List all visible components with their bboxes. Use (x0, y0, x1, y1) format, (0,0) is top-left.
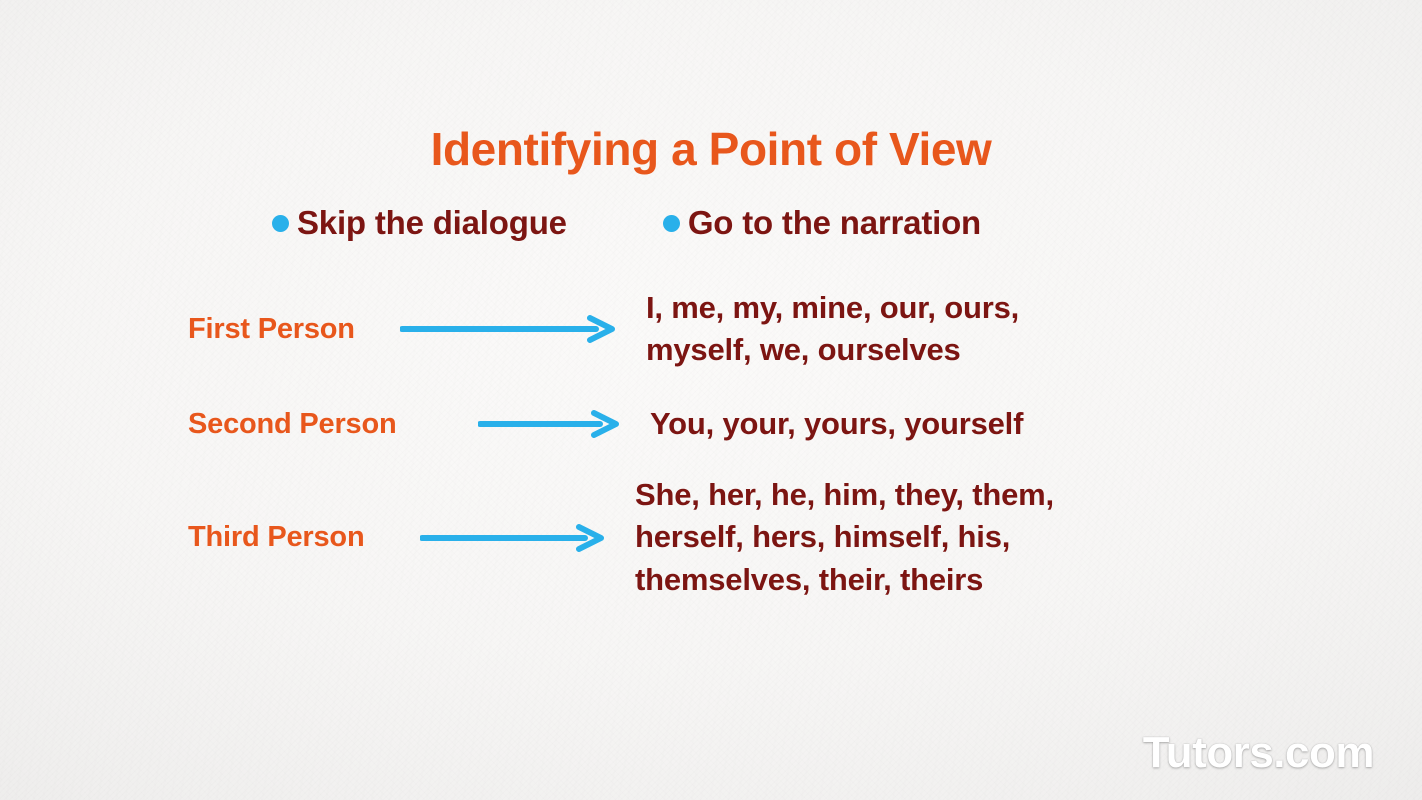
bullet-list: Skip the dialogue Go to the narration (272, 204, 981, 242)
bullet-dot-icon (663, 215, 680, 232)
pov-words-container: She, her, he, him, they, them, herself, … (635, 474, 1054, 601)
arrow-right-icon (400, 314, 616, 344)
pov-row-words: I, me, my, mine, our, ours, myself, we, … (646, 290, 1019, 367)
pov-words-container: You, your, yours, yourself (650, 403, 1023, 445)
pov-row-second-person: Second Person You, your, yours, yourself (188, 403, 1023, 445)
page-title: Identifying a Point of View (0, 122, 1422, 176)
pov-row-first-person: First Person I, me, my, mine, our, ours,… (188, 287, 1019, 372)
slide-canvas: Identifying a Point of View Skip the dia… (0, 0, 1422, 800)
bullet-item-label: Skip the dialogue (297, 204, 567, 242)
pov-row-third-person: Third Person She, her, he, him, they, th… (188, 474, 1054, 601)
pov-row-words: She, her, he, him, they, them, herself, … (635, 477, 1054, 597)
watermark-logo: Tutors.com (1143, 728, 1374, 778)
background-texture (0, 0, 1422, 800)
pov-row-label: First Person (188, 313, 400, 346)
bullet-item-label: Go to the narration (688, 204, 981, 242)
pov-row-words: You, your, yours, yourself (650, 406, 1023, 441)
bullet-dot-icon (272, 215, 289, 232)
bullet-item-skip-dialogue: Skip the dialogue (272, 204, 567, 242)
bullet-item-go-to-narration: Go to the narration (663, 204, 981, 242)
pov-words-container: I, me, my, mine, our, ours, myself, we, … (646, 287, 1019, 372)
pov-row-label: Third Person (188, 521, 420, 554)
pov-row-label: Second Person (188, 408, 478, 441)
arrow-container (478, 409, 620, 439)
arrow-container (400, 314, 616, 344)
arrow-container (420, 523, 605, 553)
arrow-right-icon (478, 409, 620, 439)
arrow-right-icon (420, 523, 605, 553)
